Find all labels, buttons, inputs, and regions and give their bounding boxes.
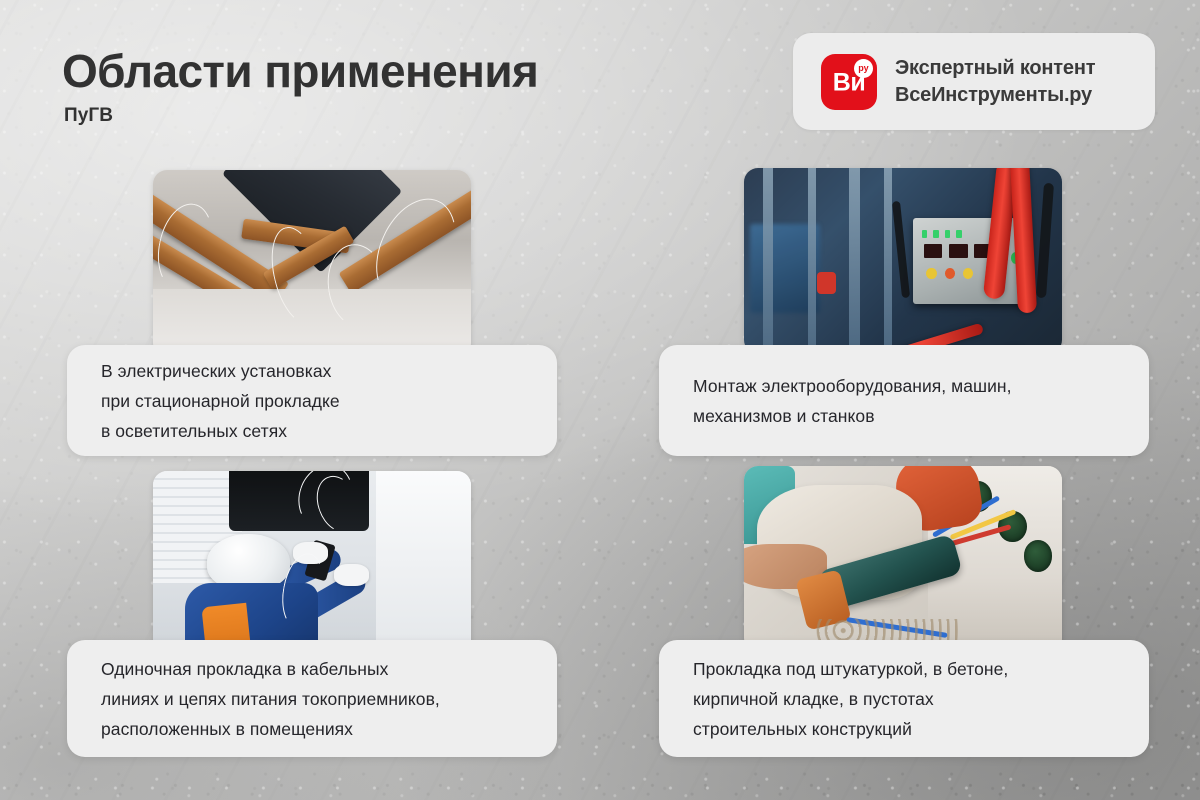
- logo-superscript: ру: [854, 59, 873, 78]
- page-subtitle: ПуГВ: [64, 104, 538, 128]
- photo-scene-roof-beams: [153, 170, 471, 356]
- photo-scene-industrial-panel: [744, 168, 1062, 354]
- item-photo-3: [153, 471, 471, 657]
- item-card-1: В электрических установках при стационар…: [67, 345, 557, 456]
- item-photo-4: [744, 466, 1062, 652]
- brand-badge-line-2: ВсеИнструменты.ру: [895, 83, 1095, 108]
- item-card-3: Одиночная прокладка в кабельных линиях и…: [67, 640, 557, 757]
- vseinstrumenty-logo-icon: Ви ру: [821, 54, 877, 110]
- item-card-2-text: Монтаж электрооборудования, машин, механ…: [659, 371, 1012, 431]
- item-photo-2: [744, 168, 1062, 354]
- brand-badge: Ви ру Экспертный контент ВсеИнструменты.…: [793, 33, 1155, 130]
- page-title: Области применения: [62, 44, 538, 98]
- brand-badge-line-1: Экспертный контент: [895, 56, 1095, 81]
- item-photo-1: [153, 170, 471, 356]
- item-card-2: Монтаж электрооборудования, машин, механ…: [659, 345, 1149, 456]
- photo-scene-electrician: [153, 471, 471, 657]
- header: Области применения ПуГВ: [62, 44, 538, 128]
- photo-scene-wall-drilling: [744, 466, 1062, 652]
- item-card-4-text: Прокладка под штукатуркой, в бетоне, кир…: [659, 654, 1008, 744]
- item-card-1-text: В электрических установках при стационар…: [67, 356, 340, 446]
- infographic-page: Области применения ПуГВ Ви ру Экспертный…: [0, 0, 1200, 800]
- brand-badge-text: Экспертный контент ВсеИнструменты.ру: [895, 56, 1095, 108]
- item-card-4: Прокладка под штукатуркой, в бетоне, кир…: [659, 640, 1149, 757]
- item-card-3-text: Одиночная прокладка в кабельных линиях и…: [67, 654, 440, 744]
